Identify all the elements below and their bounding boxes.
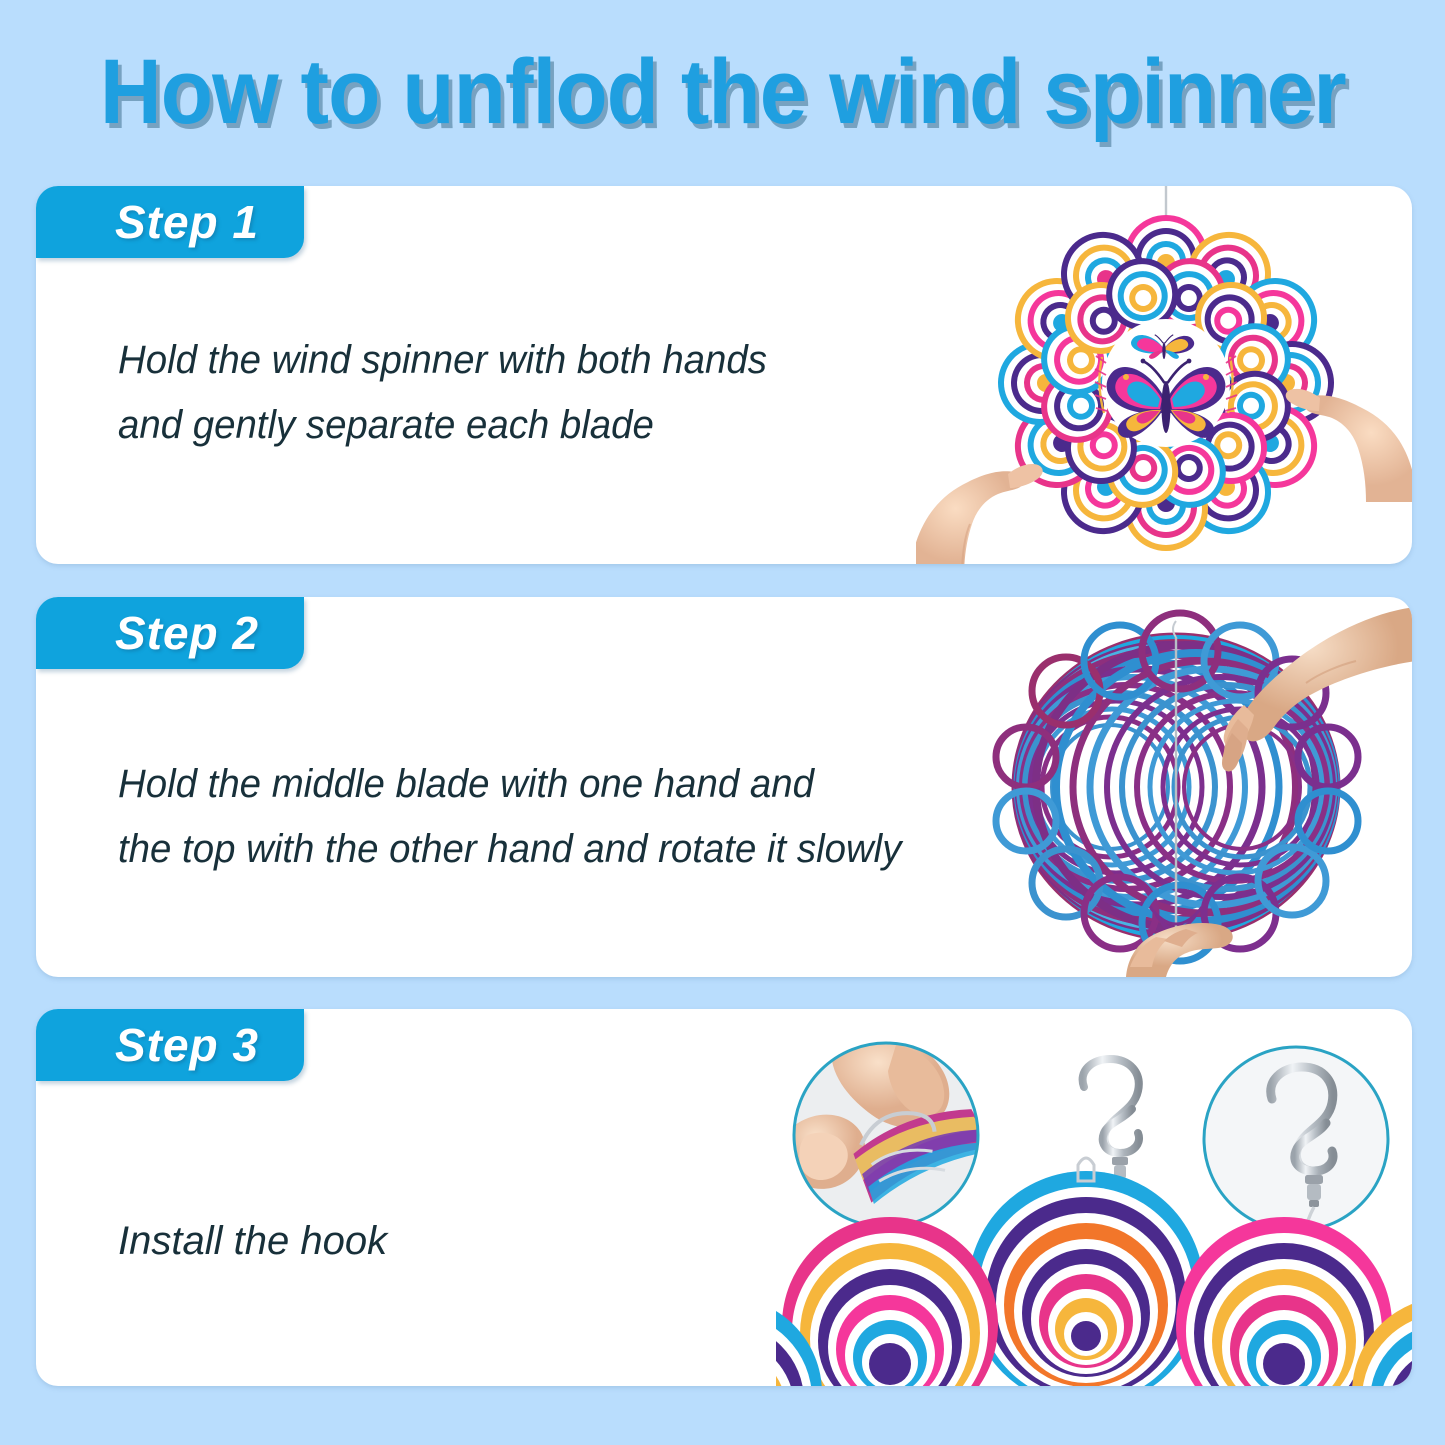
step-1-instruction: Hold the wind spinner with both hands an… — [118, 328, 767, 458]
step-2-card: Step 2 Hold the middle blade with one ha… — [36, 597, 1412, 977]
left-hand — [916, 464, 1043, 564]
step-3-badge-label: Step 3 — [81, 1018, 259, 1072]
step-3-illustration — [776, 1039, 1412, 1386]
butterfly-mandala-spinner — [998, 215, 1334, 551]
page-title: How to unflod the wind spinner — [0, 34, 1445, 149]
step-2-badge-label: Step 2 — [81, 606, 259, 660]
step-2-illustration — [976, 597, 1412, 977]
step-1-badge-label: Step 1 — [81, 195, 259, 249]
step-1-card: Step 1 Hold the wind spinner with both h… — [36, 186, 1412, 564]
step-3-instruction: Install the hook — [118, 1209, 387, 1274]
step-3-badge: Step 3 — [36, 1009, 304, 1081]
step-1-illustration — [916, 186, 1412, 564]
step-1-badge: Step 1 — [36, 186, 304, 258]
step-2-badge: Step 2 — [36, 597, 304, 669]
page-title-text: How to unflod the wind spinner — [100, 46, 1346, 138]
step-2-instruction: Hold the middle blade with one hand and … — [118, 752, 901, 882]
step-3-card: Step 3 Install the hook — [36, 1009, 1412, 1386]
hook-attach-closeup-inset — [783, 1039, 997, 1227]
instruction-poster: How to unflod the wind spinner Step 1 Ho… — [0, 0, 1445, 1445]
